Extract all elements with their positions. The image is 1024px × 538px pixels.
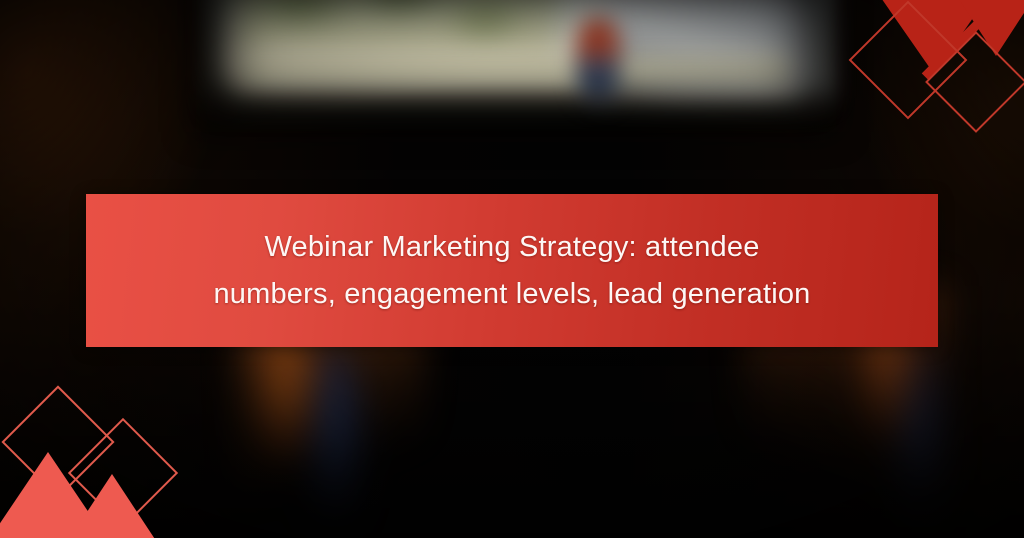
slide-canvas: Webinar Marketing Strategy: attendee num…	[0, 0, 1024, 538]
title-line-2: numbers, engagement levels, lead generat…	[213, 271, 810, 318]
title-banner: Webinar Marketing Strategy: attendee num…	[86, 194, 938, 347]
title-line-1: Webinar Marketing Strategy: attendee	[264, 224, 759, 271]
